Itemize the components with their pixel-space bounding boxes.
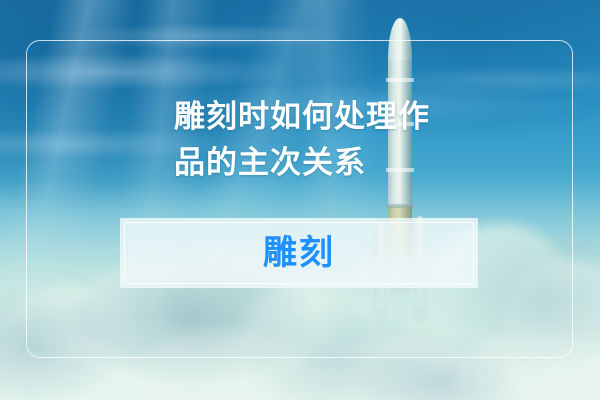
smoke-color-tint (0, 180, 600, 400)
rocket-band (386, 78, 414, 82)
tag-banner[interactable]: 雕刻 (120, 218, 478, 288)
exhaust-smoke-clouds (0, 180, 600, 400)
rocket-nose-cone (388, 18, 412, 64)
cover-image: 雕刻时如何处理作 品的主次关系 雕刻 (0, 0, 600, 400)
page-title: 雕刻时如何处理作 品的主次关系 (174, 94, 474, 186)
tag-banner-label: 雕刻 (263, 236, 335, 270)
